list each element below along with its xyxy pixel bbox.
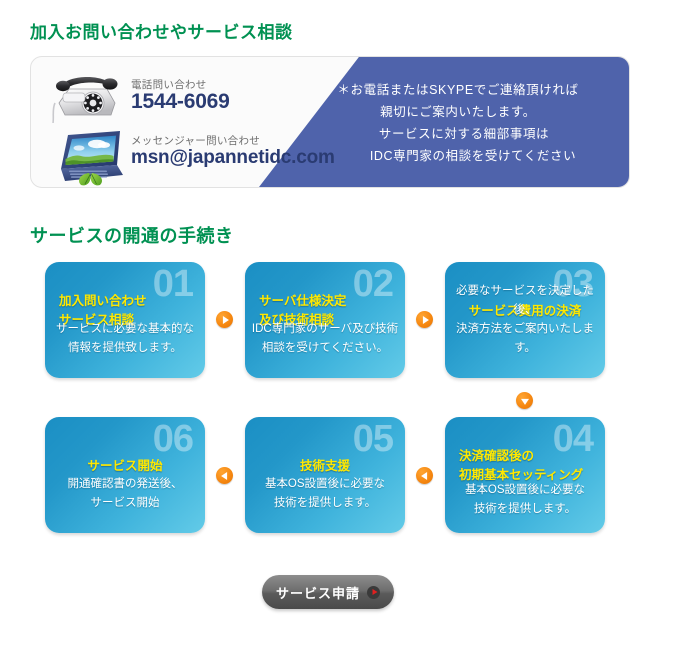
step-card-03[interactable]: 03 サービス費用の決済 必要なサービスを決定した後、 決済方法をご案内いたしま… [445, 262, 605, 378]
play-arrow-icon [367, 586, 380, 599]
arrow-left-icon [216, 467, 233, 484]
banner-note-line-1: ＊お電話またはSKYPEでご連絡頂ければ [303, 79, 613, 101]
banner-note-line-4: IDC専門家の相談を受けてください [303, 145, 613, 167]
step-description: 開通確認書の発送後、 サービス開始 [51, 475, 199, 513]
step-title-line: サービス開始 [45, 457, 205, 476]
phone-number: 1544-6069 [131, 90, 230, 114]
banner-note-line-2: 親切にご案内いたします。 [303, 101, 613, 123]
rotary-telephone-icon [49, 73, 123, 123]
step-card-05[interactable]: 05 技術支援 基本OS設置後に必要な 技術を提供します。 [245, 417, 405, 533]
step-title-line: 決済確認後の [459, 447, 605, 466]
service-apply-button[interactable]: サービス申請 [262, 575, 394, 609]
step-title-line: サーバ仕様決定 [259, 292, 405, 311]
step-title-line: 技術支援 [245, 457, 405, 476]
arrow-down-icon [516, 392, 533, 409]
step-description-line: 必要なサービスを決定した後、 [451, 282, 599, 320]
arrow-right-icon [416, 311, 433, 328]
step-description-line: 基本OS設置後に必要な [451, 481, 599, 500]
step-description-line: 決済方法をご案内いたします。 [451, 320, 599, 358]
step-card-06[interactable]: 06 サービス開始 開通確認書の発送後、 サービス開始 [45, 417, 205, 533]
page-title-contact: 加入お問い合わせやサービス相談 [30, 18, 293, 43]
step-description-line: 相談を受けてください。 [251, 339, 399, 358]
step-description-line: 開通確認書の発送後、 [51, 475, 199, 494]
step-title: サービス開始 [45, 457, 205, 476]
step-description-line: 技術を提供します。 [251, 494, 399, 513]
step-number: 05 [353, 419, 393, 461]
step-description: 基本OS設置後に必要な 技術を提供します。 [451, 481, 599, 519]
arrow-left-icon [416, 467, 433, 484]
step-description-line: IDC専門家のサーバ及び技術 [251, 320, 399, 339]
service-apply-label: サービス申請 [276, 583, 360, 602]
step-description-line: 技術を提供します。 [451, 500, 599, 519]
step-description-line: 基本OS設置後に必要な [251, 475, 399, 494]
step-card-02[interactable]: 02 サーバ仕様決定 及び技術相談 IDC専門家のサーバ及び技術 相談を受けてく… [245, 262, 405, 378]
step-description-line: 情報を提供致します。 [51, 339, 199, 358]
step-description-line: サービスに必要な基本的な [51, 320, 199, 339]
step-description-line: サービス開始 [51, 494, 199, 513]
step-description: サービスに必要な基本的な 情報を提供致します。 [51, 320, 199, 358]
page-title-steps: サービスの開通の手続き [30, 222, 234, 248]
laptop-icon [51, 129, 127, 187]
arrow-right-icon [216, 311, 233, 328]
step-card-01[interactable]: 01 加入問い合わせ サービス相談 サービスに必要な基本的な 情報を提供致します… [45, 262, 205, 378]
step-title-line: 加入問い合わせ [59, 292, 205, 311]
step-description: 必要なサービスを決定した後、 決済方法をご案内いたします。 [451, 282, 599, 358]
contact-banner: 電話問い合わせ 1544-6069 [30, 56, 630, 188]
step-number: 06 [153, 419, 193, 461]
step-description: 基本OS設置後に必要な 技術を提供します。 [251, 475, 399, 513]
step-description: IDC専門家のサーバ及び技術 相談を受けてください。 [251, 320, 399, 358]
messenger-label: メッセンジャー問い合わせ [131, 133, 260, 148]
banner-note: ＊お電話またはSKYPEでご連絡頂ければ 親切にご案内いたします。 サービスに対… [303, 79, 613, 167]
step-title: 技術支援 [245, 457, 405, 476]
step-title: 決済確認後の 初期基本セッティング [445, 447, 605, 485]
banner-note-line-3: サービスに対する細部事項は [303, 123, 613, 145]
step-card-04[interactable]: 04 決済確認後の 初期基本セッティング 基本OS設置後に必要な 技術を提供しま… [445, 417, 605, 533]
